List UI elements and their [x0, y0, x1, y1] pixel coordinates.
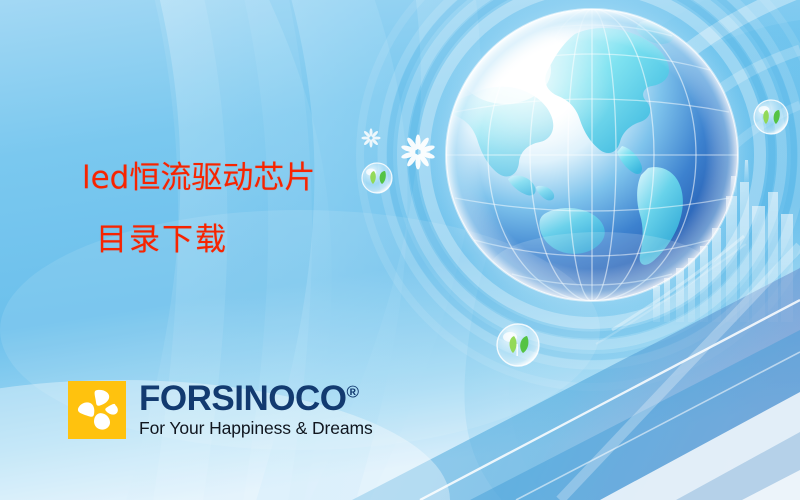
globe-continents: [442, 9, 738, 304]
logo-text-block: FORSINOCO® For Your Happiness & Dreams: [139, 381, 373, 438]
logo-tagline: For Your Happiness & Dreams: [139, 418, 373, 438]
headline-line-2: 目录下载: [96, 225, 315, 256]
forsinoco-pinwheel-icon: [68, 381, 126, 439]
bubble-bottom-center: [497, 324, 539, 366]
star-large: [401, 135, 436, 170]
logo-wordmark: FORSINOCO®: [139, 382, 373, 416]
city-skyline-silhouette: [653, 160, 793, 322]
promo-banner: led恒流驱动芯片 目录下载 FORSINOCO® For Your Happi…: [0, 0, 800, 500]
bottom-diagonal-bands: [352, 246, 800, 500]
logo-wordmark-text: FORSINOCO: [139, 379, 346, 418]
globe-halo-arcs: [360, 0, 800, 387]
headline: led恒流驱动芯片 目录下载: [82, 163, 315, 256]
star-small: [361, 128, 380, 147]
brand-logo[interactable]: FORSINOCO® For Your Happiness & Dreams: [68, 381, 373, 439]
registered-trademark-icon: ®: [346, 382, 359, 401]
earth-globe: [430, 0, 754, 317]
skyline-sweep: [596, 236, 746, 344]
bubble-mid-left: [362, 163, 392, 193]
bubble-top-right: [754, 100, 788, 134]
globe-halo-arcs-blue: [390, 0, 794, 357]
headline-line-1: led恒流驱动芯片: [82, 163, 315, 194]
